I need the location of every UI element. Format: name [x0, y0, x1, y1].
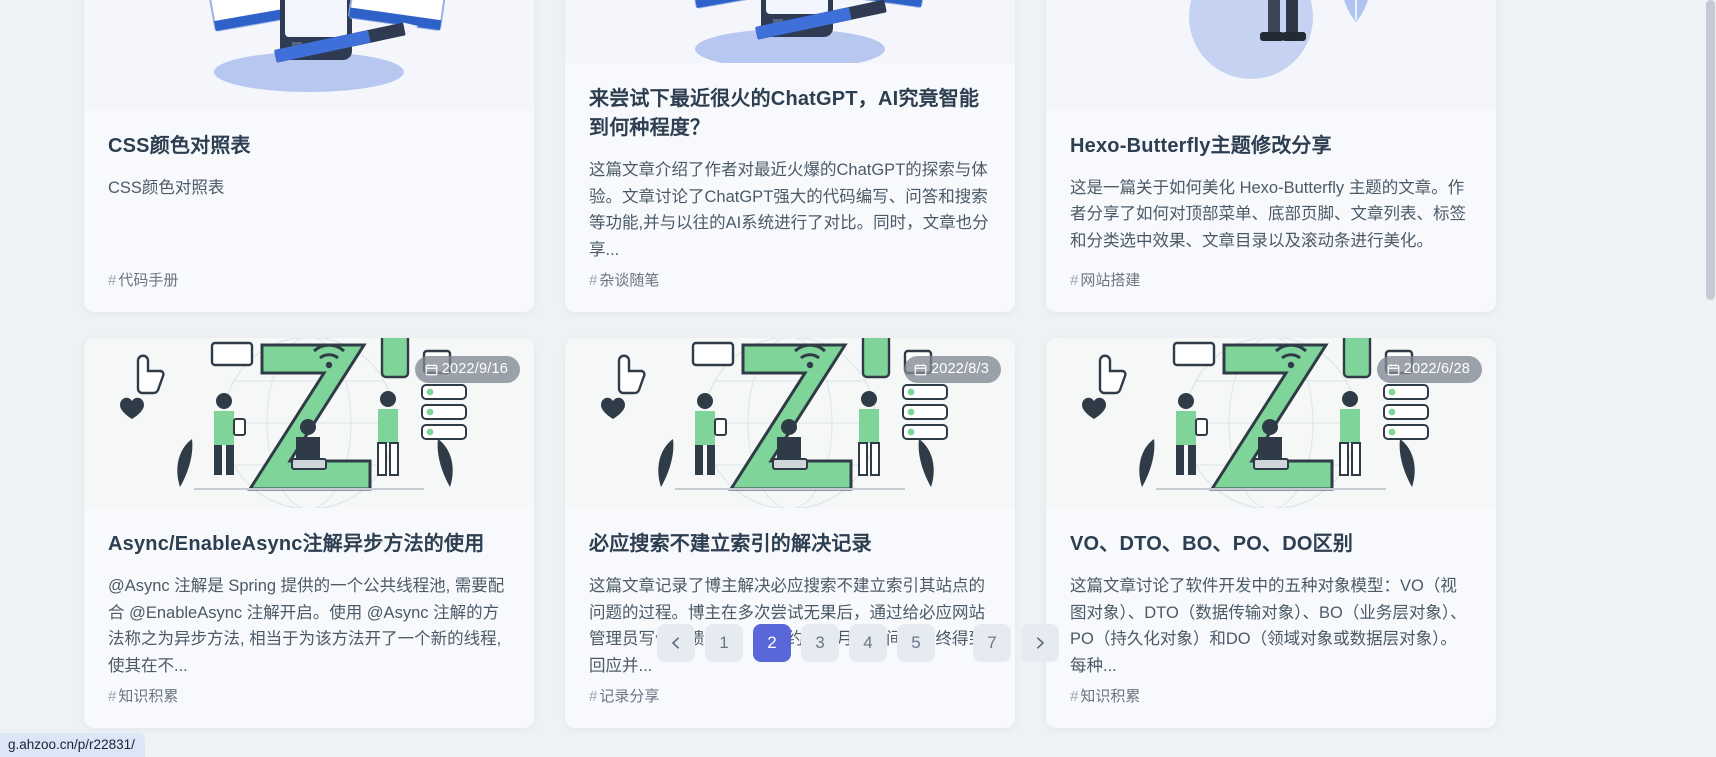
pagination-page-5[interactable]: 5: [897, 624, 935, 662]
article-date-badge: 2022/6/28: [1377, 356, 1482, 383]
article-card[interactable]: 2022/10/24 Hexo-Butterfly主题修改分享 这是一篇关于如何…: [1046, 0, 1496, 312]
article-body: 来尝试下最近很火的ChatGPT，AI究竟智能到何种程度？ 这篇文章介绍了作者对…: [565, 63, 1015, 263]
article-tag[interactable]: #知识积累: [1070, 688, 1140, 705]
article-date-badge: 2022/8/3: [904, 356, 1001, 383]
hash-icon: #: [1070, 688, 1078, 705]
article-card[interactable]: 2022/8/3 必应搜索不建立索引的解决记录 这篇文章记录了博主解决必应搜索不…: [565, 338, 1015, 728]
article-title[interactable]: 来尝试下最近很火的ChatGPT，AI究竟智能到何种程度？: [589, 85, 991, 143]
article-tags: #网站搭建: [1046, 263, 1496, 312]
chevron-left-icon: [669, 636, 683, 650]
article-cover[interactable]: 2022/6/28: [1046, 338, 1496, 508]
pagination-page-2[interactable]: 2: [753, 624, 791, 662]
article-tags: #代码手册: [84, 263, 534, 312]
article-cover[interactable]: 2022/12/8: [565, 0, 1015, 63]
article-date-text: 2022/8/3: [931, 361, 989, 377]
hash-icon: #: [108, 688, 116, 705]
article-tag[interactable]: #网站搭建: [1070, 272, 1140, 289]
hash-icon: #: [589, 688, 597, 705]
article-grid: CHECK: [84, 0, 1516, 728]
pagination-page-7[interactable]: 7: [973, 624, 1011, 662]
article-tags: #杂谈随笔: [565, 263, 1015, 312]
article-body: Hexo-Butterfly主题修改分享 这是一篇关于如何美化 Hexo-But…: [1046, 110, 1496, 263]
article-description: 这是一篇关于如何美化 Hexo-Butterfly 主题的文章。作者分享了如何对…: [1070, 175, 1472, 263]
browser-status-bar-url: g.ahzoo.cn/p/r22831/: [0, 733, 145, 757]
pagination-page-1[interactable]: 1: [705, 624, 743, 662]
article-description: 这篇文章介绍了作者对最近火爆的ChatGPT的探索与体验。文章讨论了ChatGP…: [589, 157, 991, 263]
article-tag[interactable]: #杂谈随笔: [589, 272, 659, 289]
article-tag-label: 知识积累: [118, 688, 178, 705]
article-title[interactable]: VO、DTO、BO、PO、DO区别: [1070, 530, 1472, 559]
article-list-page: CHECK: [0, 0, 1716, 757]
article-cover[interactable]: 2022/9/16: [84, 338, 534, 508]
hash-icon: #: [1070, 272, 1078, 289]
article-tag-label: 代码手册: [118, 272, 178, 289]
article-title[interactable]: CSS颜色对照表: [108, 132, 510, 161]
pagination-page-3[interactable]: 3: [801, 624, 839, 662]
article-date-text: 2022/9/16: [442, 361, 508, 377]
pagination-page-4[interactable]: 4: [849, 624, 887, 662]
calendar-icon: [1387, 363, 1400, 376]
chevron-right-icon: [1033, 636, 1047, 650]
article-card[interactable]: 2022/9/16 Async/EnableAsync注解异步方法的使用 @As…: [84, 338, 534, 728]
article-tags: #记录分享: [565, 679, 1015, 728]
article-card[interactable]: 2022/6/28 VO、DTO、BO、PO、DO区别 这篇文章讨论了软件开发中…: [1046, 338, 1496, 728]
article-cover[interactable]: 2022/10/24: [1046, 0, 1496, 110]
scrollbar-track[interactable]: [1704, 0, 1716, 757]
calendar-icon: [914, 363, 927, 376]
pagination-prev-button[interactable]: [657, 624, 695, 662]
article-tags: #知识积累: [1046, 679, 1496, 728]
study-illustration-icon: [565, 0, 1015, 63]
article-body: CSS颜色对照表 CSS颜色对照表: [84, 110, 534, 263]
article-title[interactable]: Hexo-Butterfly主题修改分享: [1070, 132, 1472, 161]
article-tag-label: 网站搭建: [1080, 272, 1140, 289]
study-illustration-icon: CHECK: [84, 0, 534, 110]
article-tag-label: 杂谈随笔: [599, 272, 659, 289]
pagination-next-button[interactable]: [1021, 624, 1059, 662]
hash-icon: #: [589, 272, 597, 289]
hash-icon: #: [108, 272, 116, 289]
scrollbar-thumb[interactable]: [1706, 0, 1715, 300]
article-tag[interactable]: #知识积累: [108, 688, 178, 705]
article-cover[interactable]: 2022/8/3: [565, 338, 1015, 508]
article-tag-label: 知识积累: [1080, 688, 1140, 705]
pagination-ellipsis: ⋯: [945, 624, 963, 662]
article-tag[interactable]: #记录分享: [589, 688, 659, 705]
article-date-text: 2022/6/28: [1404, 361, 1470, 377]
calendar-icon: [425, 363, 438, 376]
article-tag[interactable]: #代码手册: [108, 272, 178, 289]
person-illustration-icon: [1046, 0, 1496, 110]
article-tags: #知识积累: [84, 679, 534, 728]
article-title[interactable]: 必应搜索不建立索引的解决记录: [589, 530, 991, 559]
pagination: 1 2 3 4 5 ⋯ 7: [0, 624, 1716, 662]
article-description: CSS颜色对照表: [108, 175, 510, 263]
article-card[interactable]: CHECK: [84, 0, 534, 312]
article-tag-label: 记录分享: [599, 688, 659, 705]
article-date-badge: 2022/9/16: [415, 356, 520, 383]
article-card[interactable]: 2022/12/8 来尝试下最近很火的ChatGPT，AI究竟智能到何种程度？ …: [565, 0, 1015, 312]
article-title[interactable]: Async/EnableAsync注解异步方法的使用: [108, 530, 510, 559]
article-cover[interactable]: CHECK: [84, 0, 534, 110]
